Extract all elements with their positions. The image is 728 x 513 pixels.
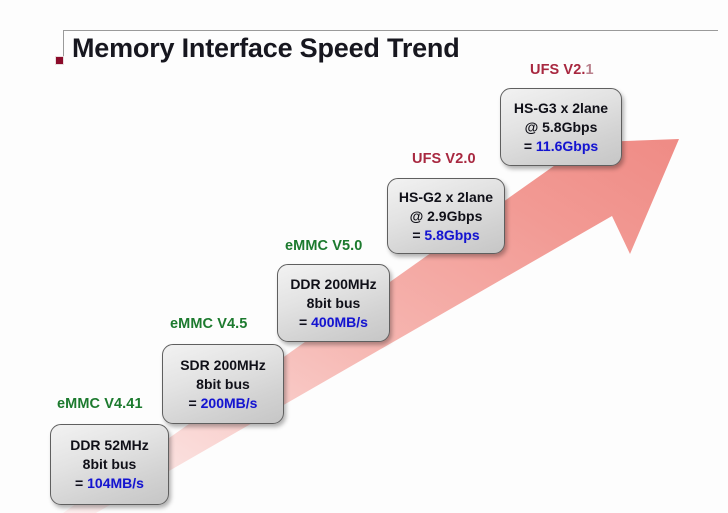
step-box-line1: SDR 200MHz — [180, 356, 266, 375]
step-box-line2: 8bit bus — [307, 294, 361, 313]
step-label-emmc-v50: eMMC V5.0 — [285, 238, 362, 254]
equals-sign: = — [189, 395, 201, 411]
step-box-line1: DDR 52MHz — [70, 436, 149, 455]
step-box-emmc-v441[interactable]: DDR 52MHz 8bit bus = 104MB/s — [50, 424, 169, 505]
step-box-emmc-v45[interactable]: SDR 200MHz 8bit bus = 200MB/s — [162, 344, 284, 424]
value-text: 104MB/s — [87, 475, 144, 491]
step-box-line1: HS-G3 x 2lane — [514, 99, 608, 118]
title-bullet-square-icon — [55, 56, 64, 65]
step-label-ufs-v20: UFS V2.0 — [412, 151, 476, 167]
step-box-line1: DDR 200MHz — [290, 275, 376, 294]
step-label-ufs-v21-suffix: 1 — [586, 62, 594, 78]
equals-sign: = — [524, 138, 536, 154]
value-text: 200MB/s — [201, 395, 258, 411]
equals-sign: = — [412, 227, 424, 243]
step-box-line2: @ 5.8Gbps — [525, 118, 598, 137]
value-text: 5.8Gbps — [424, 227, 479, 243]
step-box-ufs-v21[interactable]: HS-G3 x 2lane @ 5.8Gbps = 11.6Gbps — [500, 88, 622, 166]
step-box-value: = 5.8Gbps — [412, 226, 479, 245]
slide-canvas: Memory Interface Speed Trend eMMC V4.41 … — [0, 0, 728, 513]
step-box-value: = 104MB/s — [75, 474, 144, 493]
equals-sign: = — [75, 475, 87, 491]
step-box-value: = 400MB/s — [299, 313, 368, 332]
step-box-value: = 200MB/s — [189, 394, 258, 413]
step-label-emmc-v45: eMMC V4.5 — [170, 316, 247, 332]
page-title: Memory Interface Speed Trend — [72, 33, 460, 64]
equals-sign: = — [299, 314, 311, 330]
step-box-value: = 11.6Gbps — [524, 137, 598, 156]
step-label-ufs-v21: UFS V2.1 — [530, 62, 594, 78]
step-box-line1: HS-G2 x 2lane — [399, 188, 493, 207]
step-box-emmc-v50[interactable]: DDR 200MHz 8bit bus = 400MB/s — [277, 264, 390, 342]
step-box-line2: 8bit bus — [196, 375, 250, 394]
title-horizontal-rule — [63, 30, 718, 31]
step-label-ufs-v21-main: UFS V2. — [530, 62, 586, 78]
step-box-line2: @ 2.9Gbps — [410, 207, 483, 226]
step-label-emmc-v441: eMMC V4.41 — [57, 396, 143, 412]
value-text: 11.6Gbps — [536, 138, 598, 154]
step-box-line2: 8bit bus — [83, 455, 137, 474]
value-text: 400MB/s — [311, 314, 368, 330]
step-box-ufs-v20[interactable]: HS-G2 x 2lane @ 2.9Gbps = 5.8Gbps — [387, 178, 505, 254]
